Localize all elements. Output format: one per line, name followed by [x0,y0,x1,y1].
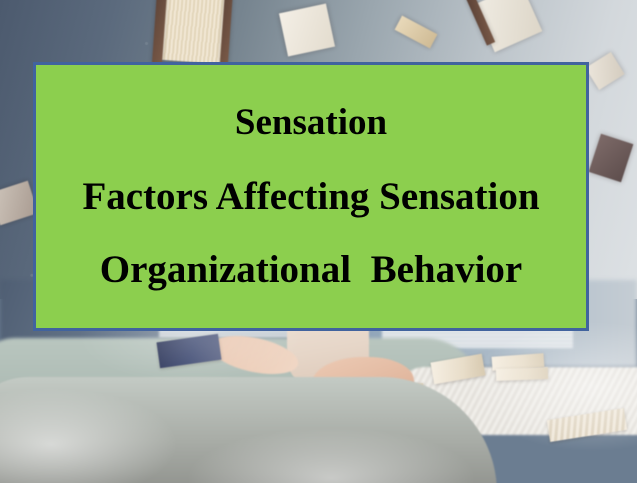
bed-duvet-front [0,377,497,483]
bed-book-stack-right-bottom [496,367,548,381]
title-card: Sensation Factors Affecting Sensation Or… [33,62,589,331]
presentation-slide: Sensation Factors Affecting Sensation Or… [0,0,637,483]
title-line-factors-affecting-sensation: Factors Affecting Sensation [36,177,586,216]
title-line-sensation: Sensation [36,104,586,141]
falling-book-top-center [160,0,228,64]
title-line-organizational-behavior: Organizational Behavior [36,250,586,289]
